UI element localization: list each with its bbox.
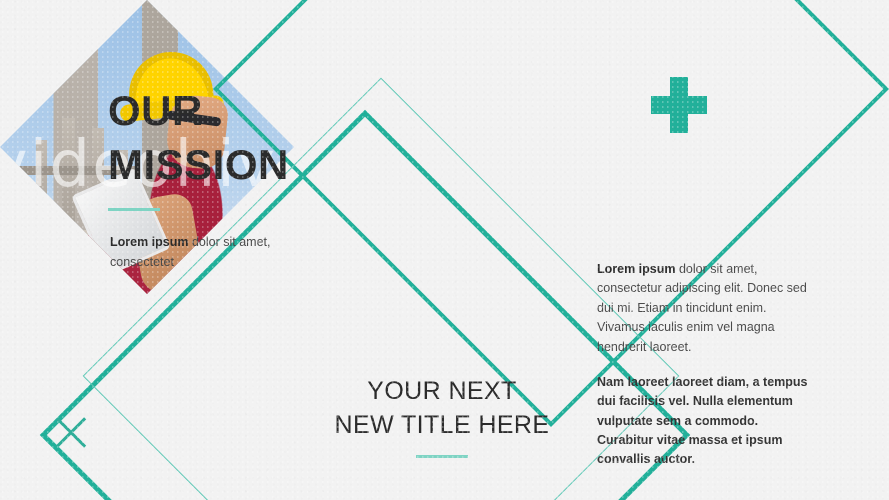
title-underline xyxy=(108,208,160,211)
left-body-text: Lorem ipsum dolor sit amet, consectetet xyxy=(110,232,325,273)
right-paragraph-two: Nam laoreet laoreet diam, a tempus dui f… xyxy=(597,373,812,470)
right-paragraph-one: Lorem ipsum dolor sit amet, consectetur … xyxy=(597,260,812,357)
presentation-slide: videohive OUR MISSION Lorem ipsum dolor … xyxy=(0,0,889,500)
close-x-icon xyxy=(54,415,88,449)
right-body-lead: Lorem ipsum xyxy=(597,262,676,276)
bottom-title: YOUR NEXT NEW TITLE HERE xyxy=(287,375,597,458)
bottom-title-line-1: YOUR NEXT xyxy=(287,375,597,409)
page-title-line-2: MISSION xyxy=(108,138,289,192)
left-body-lead: Lorem ipsum xyxy=(110,235,189,249)
page-title: OUR MISSION xyxy=(108,84,289,211)
bottom-title-underline xyxy=(416,455,468,458)
page-title-line-1: OUR xyxy=(108,84,289,138)
plus-icon xyxy=(651,77,707,133)
right-body-text: Lorem ipsum dolor sit amet, consectetur … xyxy=(597,260,812,470)
bottom-title-line-2: NEW TITLE HERE xyxy=(287,409,597,443)
